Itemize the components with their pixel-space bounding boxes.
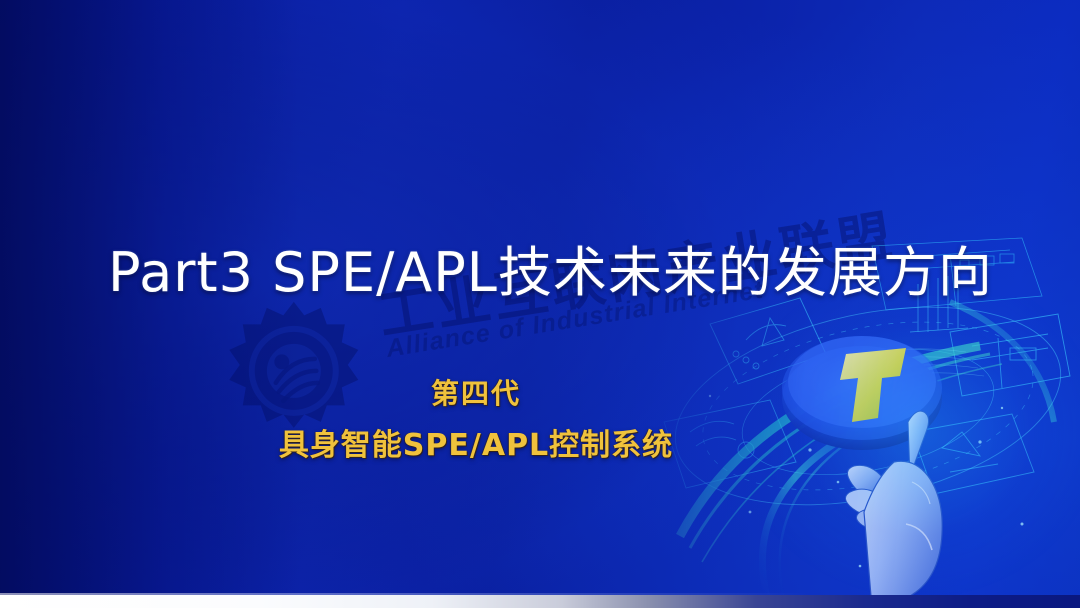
presentation-slide: 工业互联网产业联盟 Alliance of Industrial Interne… xyxy=(0,0,1080,608)
subtitle-line-1: 第四代 xyxy=(0,372,952,412)
slide-title: Part3 SPE/APL技术未来的发展方向 xyxy=(108,228,993,307)
subtitle-line-2: 具身智能SPE/APL控制系统 xyxy=(0,420,952,464)
bottom-band xyxy=(0,595,1080,608)
slide-subtitle: 第四代 具身智能SPE/APL控制系统 xyxy=(0,372,952,464)
